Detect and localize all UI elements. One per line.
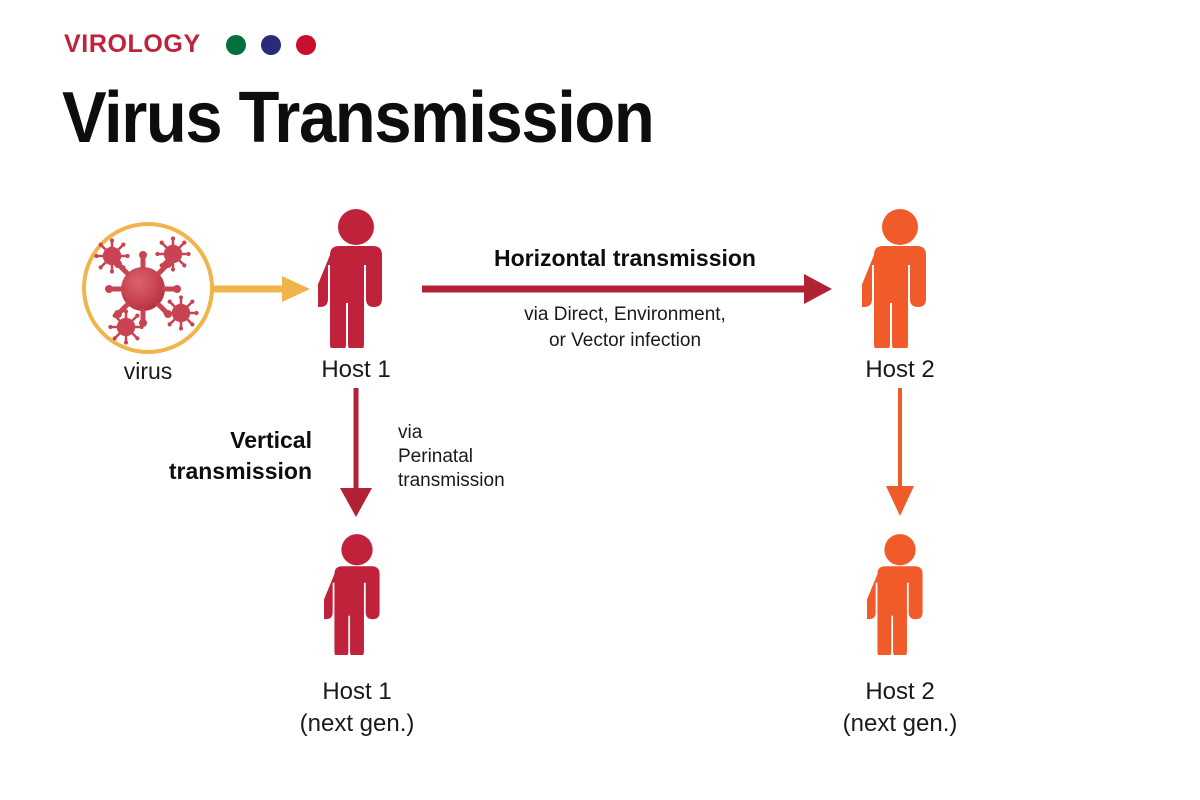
virus-entry-arrow-icon [212,268,312,310]
dot-green-icon [226,35,246,55]
vertical-transmission-arrow-icon [336,388,376,518]
color-dot-group [226,35,316,55]
kicker-label: VIROLOGY [64,32,201,57]
host1-next-gen-label: Host 1 (next gen.) [277,676,437,739]
virus-particle-icon [82,222,214,354]
page-title: Virus Transmission [62,82,653,154]
person-icon-host2 [862,208,938,348]
host2-descent-arrow-icon [880,388,920,518]
host2-label: Host 2 [832,354,968,386]
vertical-transmission-subtitle: via Perinatal transmission [398,421,578,493]
virus-label: virus [82,358,214,385]
dot-navy-icon [261,35,281,55]
horizontal-transmission-subtitle: via Direct, Environment, or Vector infec… [420,302,830,353]
dot-red-icon [296,35,316,55]
person-icon-host2-next-gen [867,533,933,655]
vertical-transmission-title: Vertical transmission [110,425,312,487]
host1-label: Host 1 [288,354,424,386]
diagram-canvas: VIROLOGY Virus Transmission [0,0,1200,800]
brand-header: VIROLOGY [64,32,316,57]
person-icon-host1-next-gen [324,533,390,655]
horizontal-transmission-arrow-icon [418,272,834,306]
host2-next-gen-label: Host 2 (next gen.) [820,676,980,739]
person-icon-host1 [318,208,394,348]
horizontal-transmission-title: Horizontal transmission [420,245,830,272]
